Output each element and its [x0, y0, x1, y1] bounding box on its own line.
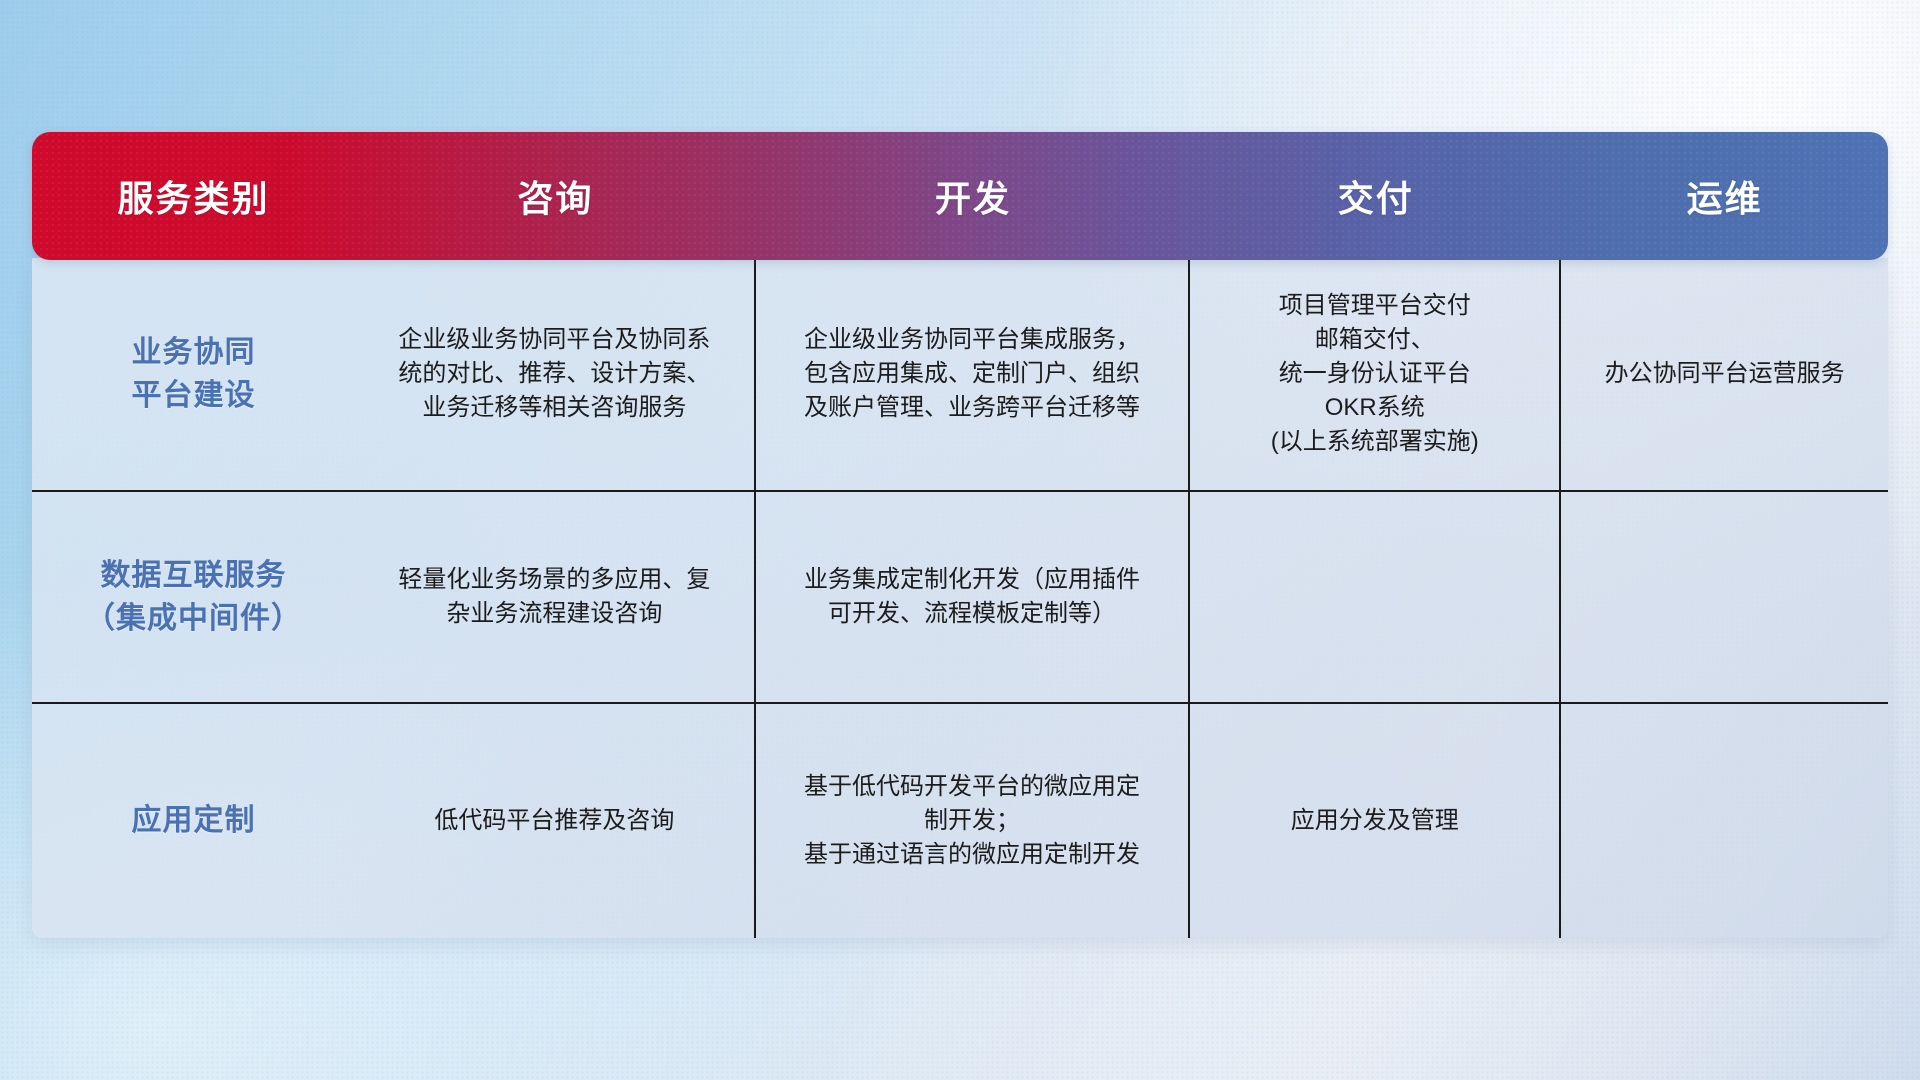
- column-header-development: 开发: [756, 132, 1190, 260]
- table-row: 数据互联服务 （集成中间件） 轻量化业务场景的多应用、复 杂业务流程建设咨询 业…: [32, 490, 1888, 702]
- row-label-data-interconnect: 数据互联服务 （集成中间件）: [32, 490, 355, 702]
- cell-row0-delivery: 项目管理平台交付 邮箱交付、 统一身份认证平台 OKR系统 (以上系统部署实施): [1190, 258, 1561, 490]
- cell-row2-development: 基于低代码开发平台的微应用定 制开发； 基于通过语言的微应用定制开发: [756, 702, 1190, 938]
- table-row: 业务协同 平台建设 企业级业务协同平台及协同系 统的对比、推荐、设计方案、 业务…: [32, 258, 1888, 490]
- slide-canvas: 服务类别 咨询 开发 交付 运维 业务协同 平台建设 企业级业务协同平台及协同系…: [0, 0, 1920, 1080]
- cell-row0-consulting: 企业级业务协同平台及协同系 统的对比、推荐、设计方案、 业务迁移等相关咨询服务: [355, 258, 756, 490]
- cell-row1-consulting: 轻量化业务场景的多应用、复 杂业务流程建设咨询: [355, 490, 756, 702]
- table-header-row: 服务类别 咨询 开发 交付 运维: [32, 132, 1888, 260]
- cell-row1-delivery: [1190, 490, 1561, 702]
- cell-row2-consulting: 低代码平台推荐及咨询: [355, 702, 756, 938]
- table-body: 业务协同 平台建设 企业级业务协同平台及协同系 统的对比、推荐、设计方案、 业务…: [32, 258, 1888, 938]
- row-label-app-customization: 应用定制: [32, 702, 355, 938]
- column-header-consulting: 咨询: [355, 132, 756, 260]
- column-header-operations: 运维: [1561, 132, 1888, 260]
- cell-row2-delivery: 应用分发及管理: [1190, 702, 1561, 938]
- cell-row1-development: 业务集成定制化开发（应用插件 可开发、流程模板定制等）: [756, 490, 1190, 702]
- service-matrix-table: 服务类别 咨询 开发 交付 运维 业务协同 平台建设 企业级业务协同平台及协同系…: [32, 132, 1888, 938]
- table-row: 应用定制 低代码平台推荐及咨询 基于低代码开发平台的微应用定 制开发； 基于通过…: [32, 702, 1888, 938]
- column-header-delivery: 交付: [1190, 132, 1561, 260]
- column-header-category: 服务类别: [32, 132, 355, 260]
- cell-row2-operations: [1561, 702, 1888, 938]
- row-label-business-collaboration: 业务协同 平台建设: [32, 258, 355, 490]
- cell-row1-operations: [1561, 490, 1888, 702]
- cell-row0-development: 企业级业务协同平台集成服务， 包含应用集成、定制门户、组织 及账户管理、业务跨平…: [756, 258, 1190, 490]
- cell-row0-operations: 办公协同平台运营服务: [1561, 258, 1888, 490]
